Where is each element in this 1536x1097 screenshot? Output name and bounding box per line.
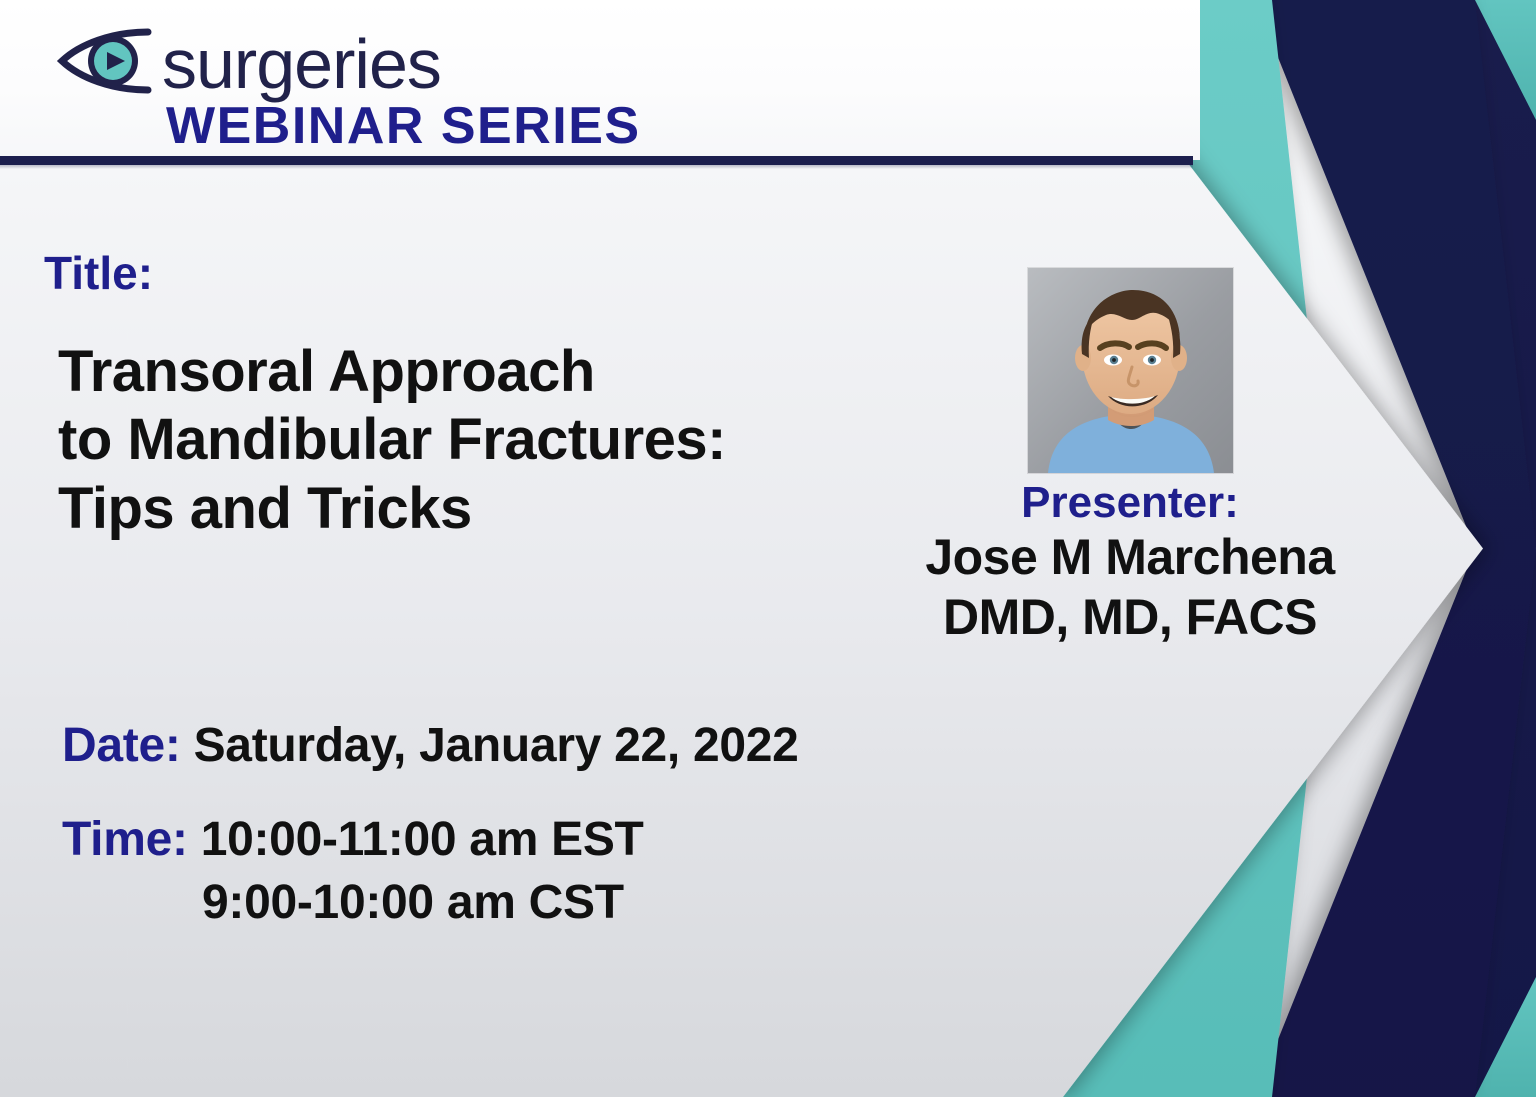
time-label: Time:	[62, 813, 188, 866]
presenter-label: Presenter:	[870, 479, 1390, 527]
date-label: Date:	[62, 719, 181, 772]
brand-logo: surgeries	[52, 22, 441, 100]
time-value-secondary: 9:00-10:00 am CST	[62, 871, 644, 934]
date-value: Saturday, January 22, 2022	[194, 719, 799, 772]
brand-wordmark: surgeries	[162, 29, 441, 99]
eye-play-icon	[52, 22, 156, 100]
presenter-headshot	[1028, 268, 1233, 473]
header-divider-rule	[0, 156, 1193, 165]
title-label: Title:	[44, 246, 153, 300]
webinar-flyer: surgeries WEBINAR SERIES Title: Transora…	[0, 0, 1536, 1097]
webinar-series-label: WEBINAR SERIES	[166, 100, 641, 152]
date-line: Date: Saturday, January 22, 2022	[62, 718, 799, 773]
chevron-teal-corner-top	[1475, 0, 1536, 120]
header-divider-shadow	[0, 165, 1193, 169]
presenter-credentials: DMD, MD, FACS	[870, 587, 1390, 647]
presenter-name: Jose M Marchena	[870, 527, 1390, 587]
talk-title: Transoral Approach to Mandibular Fractur…	[58, 338, 726, 543]
chevron-teal-corner-bottom	[1475, 977, 1536, 1097]
time-block: Time: 10:00-11:00 am EST 9:00-10:00 am C…	[62, 808, 644, 935]
time-value-primary: 10:00-11:00 am EST	[201, 813, 644, 866]
presenter-block: Presenter: Jose M Marchena DMD, MD, FACS	[870, 268, 1390, 647]
